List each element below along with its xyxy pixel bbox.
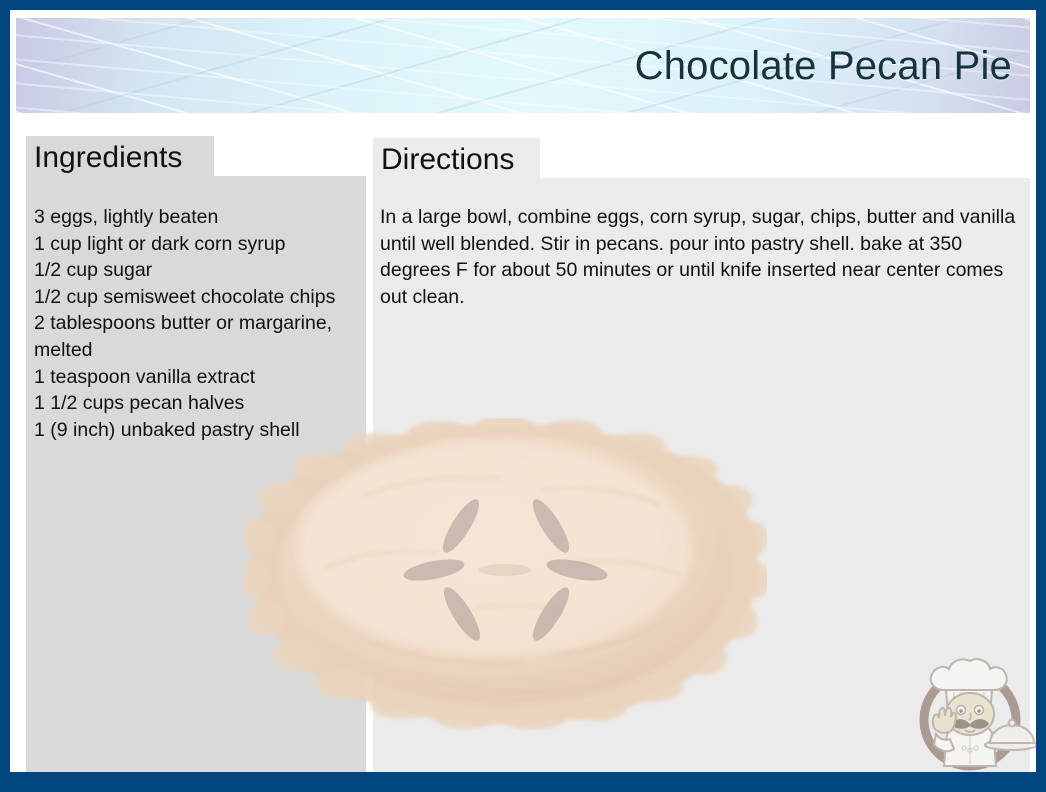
directions-text: In a large bowl, combine eggs, corn syru…: [380, 204, 1028, 310]
list-item: 1 1/2 cups pecan halves: [34, 390, 374, 417]
recipe-page: Chocolate Pecan Pie Ingredients Directio…: [10, 10, 1036, 772]
list-item: 2 tablespoons butter or margarine, melte…: [34, 310, 374, 363]
page-title: Chocolate Pecan Pie: [635, 45, 1012, 87]
list-item: 1/2 cup semisweet chocolate chips: [34, 284, 374, 311]
list-item: 1 (9 inch) unbaked pastry shell: [34, 417, 374, 444]
list-item: 1/2 cup sugar: [34, 257, 374, 284]
list-item: 3 eggs, lightly beaten: [34, 204, 374, 231]
recipe-card: Chocolate Pecan Pie Ingredients Directio…: [0, 0, 1046, 792]
directions-panel: In a large bowl, combine eggs, corn syru…: [373, 178, 1030, 772]
directions-heading: Directions: [373, 138, 540, 182]
ingredients-list: 3 eggs, lightly beaten 1 cup light or da…: [34, 204, 374, 443]
header-banner: Chocolate Pecan Pie: [16, 18, 1030, 113]
list-item: 1 cup light or dark corn syrup: [34, 231, 374, 258]
ingredients-panel: 3 eggs, lightly beaten 1 cup light or da…: [26, 176, 366, 772]
ingredients-heading: Ingredients: [26, 136, 214, 180]
list-item: 1 teaspoon vanilla extract: [34, 364, 374, 391]
